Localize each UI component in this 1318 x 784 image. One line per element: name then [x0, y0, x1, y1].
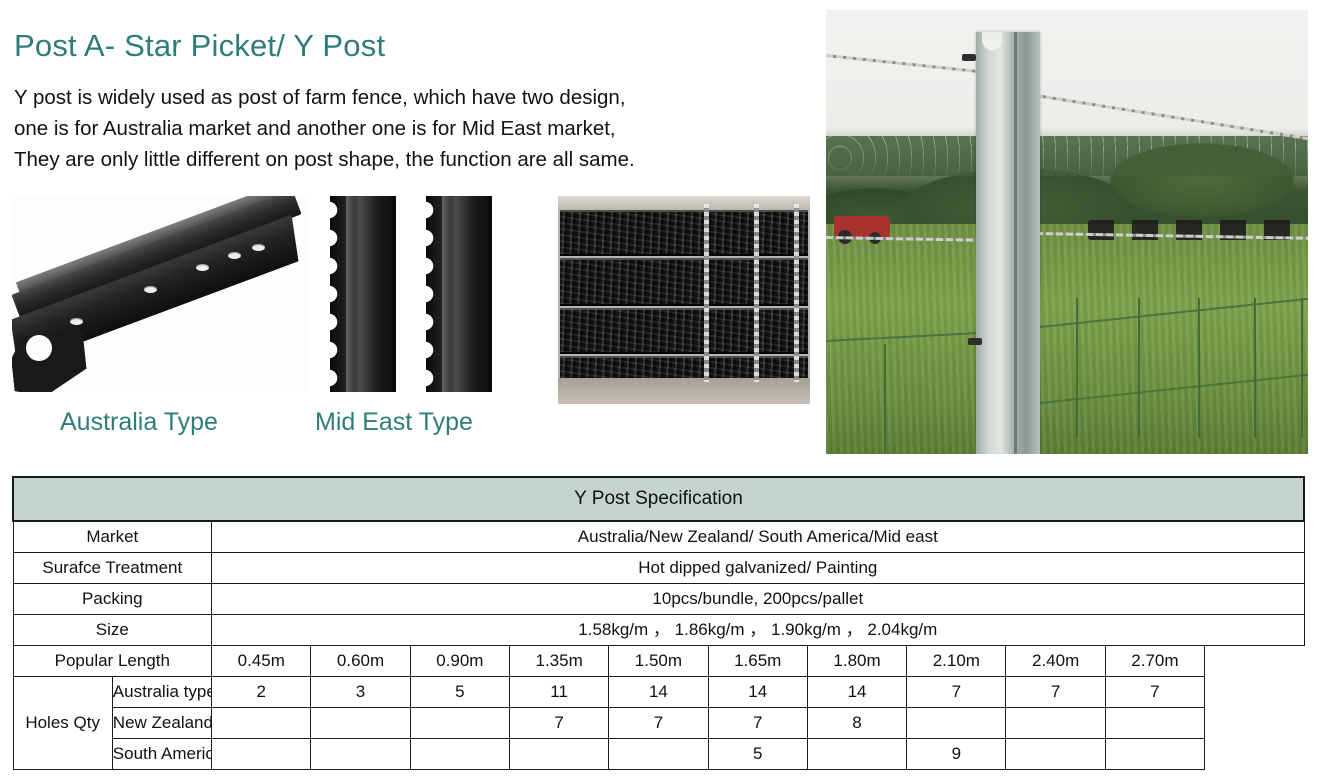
length-header-cell: 2.70m: [1105, 646, 1204, 677]
post-bundle: [560, 356, 808, 380]
wire-clip: [962, 54, 976, 61]
length-header-cell: 0.90m: [410, 646, 509, 677]
holes-qty-cell: [1006, 739, 1105, 770]
holes-type-label: New Zealand type: [112, 708, 211, 739]
post-hole: [144, 286, 157, 293]
length-header-cell: 1.80m: [807, 646, 906, 677]
holes-qty-cell: 14: [807, 677, 906, 708]
bundle-strap: [704, 204, 709, 382]
holes-qty-cell: [1006, 708, 1105, 739]
holes-qty-cell: [907, 708, 1006, 739]
post-illustration: [12, 202, 308, 392]
spec-row-label: Surafce Treatment: [13, 553, 212, 584]
holes-qty-cell: 8: [807, 708, 906, 739]
holes-qty-cell: 3: [311, 677, 410, 708]
length-header-cell: 1.50m: [609, 646, 708, 677]
table-row: Surafce TreatmentHot dipped galvanized/ …: [13, 553, 1304, 584]
holes-qty-cell: [212, 708, 311, 739]
mesh-fence-stay: [1254, 298, 1256, 438]
holes-type-label: Australia type: [112, 677, 211, 708]
holes-qty-cell: 7: [1006, 677, 1105, 708]
post-bundle: [560, 258, 808, 306]
mesh-fence-stay: [884, 344, 886, 454]
photo-mid-east-type-post: [322, 196, 512, 392]
popular-length-row: Popular Length0.45m0.60m0.90m1.35m1.50m1…: [13, 646, 1304, 677]
mesh-fence-stay: [1301, 298, 1303, 438]
mid-east-post-right: [426, 196, 492, 392]
holes-qty-row: South America Type59: [13, 739, 1304, 770]
post-hole: [70, 318, 83, 325]
mesh-fence-stay: [1138, 298, 1140, 438]
holes-qty-cell: [609, 739, 708, 770]
holes-qty-cell: 5: [708, 739, 807, 770]
holes-qty-cell: [509, 739, 608, 770]
mid-east-post-left: [330, 196, 396, 392]
product-description: Y post is widely used as post of farm fe…: [14, 82, 635, 175]
spec-row-value: 10pcs/bundle, 200pcs/pallet: [212, 584, 1304, 615]
caption-australia-type: Australia Type: [60, 408, 218, 437]
spec-row-value: Hot dipped galvanized/ Painting: [212, 553, 1304, 584]
holes-qty-cell: [410, 739, 509, 770]
concrete-floor: [558, 378, 810, 404]
length-header-cell: 0.60m: [311, 646, 410, 677]
post-notch: [26, 335, 52, 361]
post-hole: [196, 264, 209, 271]
grass-paddock: [826, 224, 1308, 454]
spec-row-label: Market: [13, 521, 212, 553]
post-hole: [228, 252, 241, 259]
post-scalloped-edge: [425, 196, 442, 392]
post-scalloped-edge: [329, 196, 346, 392]
spec-row-value: Australia/New Zealand/ South America/Mid…: [212, 521, 1304, 553]
table-row: Packing10pcs/bundle, 200pcs/pallet: [13, 584, 1304, 615]
holes-qty-cell: 7: [1105, 677, 1204, 708]
table-title-row: Y Post Specification: [13, 477, 1304, 521]
post-highlight: [346, 196, 355, 392]
holes-qty-cell: 14: [708, 677, 807, 708]
holes-qty-cell: [311, 708, 410, 739]
post-hole: [252, 244, 265, 251]
holes-qty-cell: 5: [410, 677, 509, 708]
holes-qty-cell: [311, 739, 410, 770]
holes-qty-cell: 11: [509, 677, 608, 708]
table-title: Y Post Specification: [13, 477, 1304, 521]
photo-australia-type-post: [12, 196, 308, 392]
length-header-cell: 1.35m: [509, 646, 608, 677]
description-line-3: They are only little different on post s…: [14, 144, 635, 175]
photo-bundled-posts-stack: [558, 196, 810, 404]
mesh-fence-stay: [1076, 298, 1078, 438]
post-bundle: [560, 308, 808, 354]
y-post-specification-table: Y Post Specification MarketAustralia/New…: [12, 476, 1305, 770]
holes-qty-cell: [212, 739, 311, 770]
description-line-2: one is for Australia market and another …: [14, 113, 635, 144]
holes-qty-cell: [1105, 708, 1204, 739]
spec-row-label: Packing: [13, 584, 212, 615]
popular-length-label: Popular Length: [13, 646, 212, 677]
post-highlight: [442, 196, 451, 392]
caption-mid-east-type: Mid East Type: [315, 408, 473, 437]
holes-qty-cell: [807, 739, 906, 770]
holes-qty-label: Holes Qty: [13, 677, 112, 770]
holes-qty-cell: 7: [609, 708, 708, 739]
holes-qty-cell: 14: [609, 677, 708, 708]
wire-clip: [968, 338, 982, 345]
post-anchor-plate: [12, 330, 89, 392]
post-bundle: [560, 210, 808, 256]
treeline: [826, 136, 1308, 176]
holes-qty-row: New Zealand type7778: [13, 708, 1304, 739]
product-spec-sheet: Post A- Star Picket/ Y Post Y post is wi…: [0, 0, 1318, 784]
length-header-cell: 1.65m: [708, 646, 807, 677]
spec-row-label: Size: [13, 615, 212, 646]
red-tractor: [834, 216, 890, 238]
holes-qty-cell: 2: [212, 677, 311, 708]
holes-qty-cell: 7: [907, 677, 1006, 708]
mesh-fence-stay: [1198, 298, 1200, 438]
bundle-strap: [794, 204, 799, 382]
holes-qty-cell: 7: [509, 708, 608, 739]
holes-type-label: South America Type: [112, 739, 211, 770]
holes-qty-cell: 7: [708, 708, 807, 739]
length-header-cell: 0.45m: [212, 646, 311, 677]
holes-qty-cell: 9: [907, 739, 1006, 770]
photo-installed-post-field: [826, 10, 1308, 454]
holes-qty-row: Holes QtyAustralia type23511141414777: [13, 677, 1304, 708]
holes-qty-cell: [1105, 739, 1204, 770]
spec-row-value: 1.58kg/m ， 1.86kg/m ， 1.90kg/m ， 2.04kg/…: [212, 615, 1304, 646]
bundle-strap: [754, 204, 759, 382]
table-row: Size1.58kg/m ， 1.86kg/m ， 1.90kg/m ， 2.0…: [13, 615, 1304, 646]
galvanized-post: [976, 32, 1040, 454]
page-title: Post A- Star Picket/ Y Post: [14, 28, 385, 64]
table-row: MarketAustralia/New Zealand/ South Ameri…: [13, 521, 1304, 553]
holes-qty-cell: [410, 708, 509, 739]
length-header-cell: 2.10m: [907, 646, 1006, 677]
description-line-1: Y post is widely used as post of farm fe…: [14, 82, 635, 113]
length-header-cell: 2.40m: [1006, 646, 1105, 677]
